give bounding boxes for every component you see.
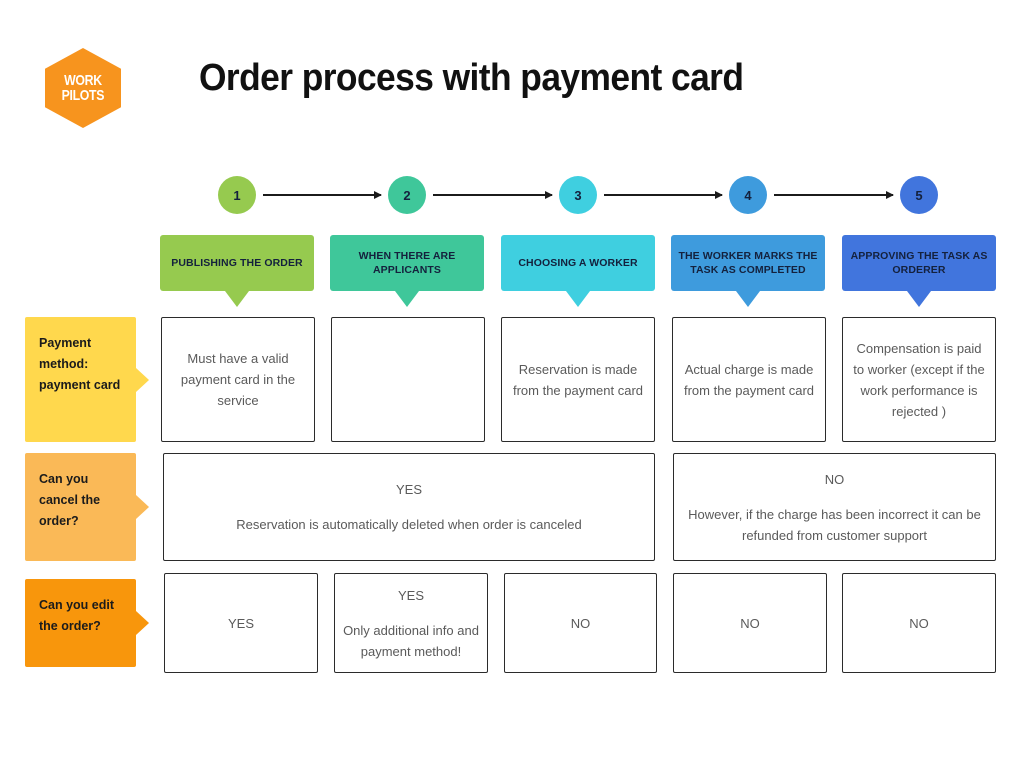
stage-banner-3: CHOOSING A WORKER — [501, 235, 655, 291]
stage-banner-pointer-5 — [907, 291, 931, 307]
stage-banner-pointer-4 — [736, 291, 760, 307]
cell-detail: Actual charge is made from the payment c… — [681, 359, 817, 401]
cell-detail: Only additional info and payment method! — [343, 620, 479, 662]
step-node-4: 4 — [729, 176, 767, 214]
step-number-label: 1 — [233, 188, 240, 203]
stage-banner-pointer-1 — [225, 291, 249, 307]
row-label-2: Can you cancel the order? — [25, 453, 136, 561]
row-label-1: Payment method: payment card — [25, 317, 136, 442]
stage-banner-1: PUBLISHING THE ORDER — [160, 235, 314, 291]
row-label-text: Can you cancel the order? — [39, 472, 100, 528]
stage-banner-pointer-2 — [395, 291, 419, 307]
matrix-cell-r1-c3: Reservation is made from the payment car… — [501, 317, 655, 442]
matrix-cell-r3-c2: YESOnly additional info and payment meth… — [334, 573, 488, 673]
matrix-cell-r3-c1: YES — [164, 573, 318, 673]
cell-detail: Must have a valid payment card in the se… — [170, 348, 306, 411]
cell-detail: Compensation is paid to worker (except i… — [851, 338, 987, 422]
step-arrow-2-to-3 — [433, 194, 552, 196]
cell-answer: YES — [398, 585, 424, 606]
stage-banner-label: APPROVING THE TASK AS ORDERER — [848, 249, 990, 277]
row-label-3: Can you edit the order? — [25, 579, 136, 667]
page-title: Order process with payment card — [199, 57, 743, 100]
cell-answer: NO — [909, 613, 929, 634]
cell-answer: NO — [825, 469, 845, 490]
step-arrow-1-to-2 — [263, 194, 381, 196]
step-number-label: 5 — [915, 188, 922, 203]
step-arrow-4-to-5 — [774, 194, 893, 196]
logo-line-2: PILOTS — [62, 88, 104, 103]
stage-banner-5: APPROVING THE TASK AS ORDERER — [842, 235, 996, 291]
step-node-5: 5 — [900, 176, 938, 214]
step-arrow-3-to-4 — [604, 194, 722, 196]
matrix-cell-r1-c1: Must have a valid payment card in the se… — [161, 317, 315, 442]
step-node-1: 1 — [218, 176, 256, 214]
step-node-2: 2 — [388, 176, 426, 214]
matrix-cell-r3-c5: NO — [842, 573, 996, 673]
matrix-cell-r1-c4: Actual charge is made from the payment c… — [672, 317, 826, 442]
matrix-cell-r1-c5: Compensation is paid to worker (except i… — [842, 317, 996, 442]
step-number-label: 3 — [574, 188, 581, 203]
stage-banner-pointer-3 — [566, 291, 590, 307]
cell-detail: Reservation is automatically deleted whe… — [236, 514, 581, 535]
step-node-3: 3 — [559, 176, 597, 214]
cell-answer: YES — [396, 479, 422, 500]
stage-banner-label: WHEN THERE ARE APPLICANTS — [336, 249, 478, 277]
stage-banner-label: THE WORKER MARKS THE TASK AS COMPLETED — [677, 249, 819, 277]
row-label-pointer-2 — [136, 495, 149, 519]
cell-answer: YES — [228, 613, 254, 634]
row-label-text: Payment method: payment card — [39, 336, 120, 392]
cell-detail: Reservation is made from the payment car… — [510, 359, 646, 401]
row-label-pointer-3 — [136, 611, 149, 635]
row-label-text: Can you edit the order? — [39, 598, 114, 633]
matrix-cell-r3-c3: NO — [504, 573, 657, 673]
row-label-pointer-1 — [136, 368, 149, 392]
logo-line-1: WORK — [64, 73, 102, 88]
workpilots-logo: WORK PILOTS — [45, 48, 121, 128]
logo-hexagon-icon: WORK PILOTS — [45, 48, 121, 128]
cell-answer: NO — [740, 613, 760, 634]
matrix-cell-r1-c2 — [331, 317, 485, 442]
step-number-label: 4 — [744, 188, 751, 203]
page-header: WORK PILOTS Order process with payment c… — [0, 0, 1024, 150]
matrix-cell-r2-c2: NOHowever, if the charge has been incorr… — [673, 453, 996, 561]
stage-banner-label: CHOOSING A WORKER — [518, 256, 637, 270]
cell-detail: However, if the charge has been incorrec… — [682, 504, 987, 546]
step-number-label: 2 — [403, 188, 410, 203]
stage-banners: PUBLISHING THE ORDERWHEN THERE ARE APPLI… — [160, 235, 996, 307]
matrix-cell-r2-c1: YESReservation is automatically deleted … — [163, 453, 655, 561]
stage-banner-2: WHEN THERE ARE APPLICANTS — [330, 235, 484, 291]
step-sequence: 12345 — [160, 176, 996, 216]
matrix-cell-r3-c4: NO — [673, 573, 827, 673]
stage-banner-4: THE WORKER MARKS THE TASK AS COMPLETED — [671, 235, 825, 291]
stage-banner-label: PUBLISHING THE ORDER — [171, 256, 303, 270]
cell-answer: NO — [571, 613, 591, 634]
